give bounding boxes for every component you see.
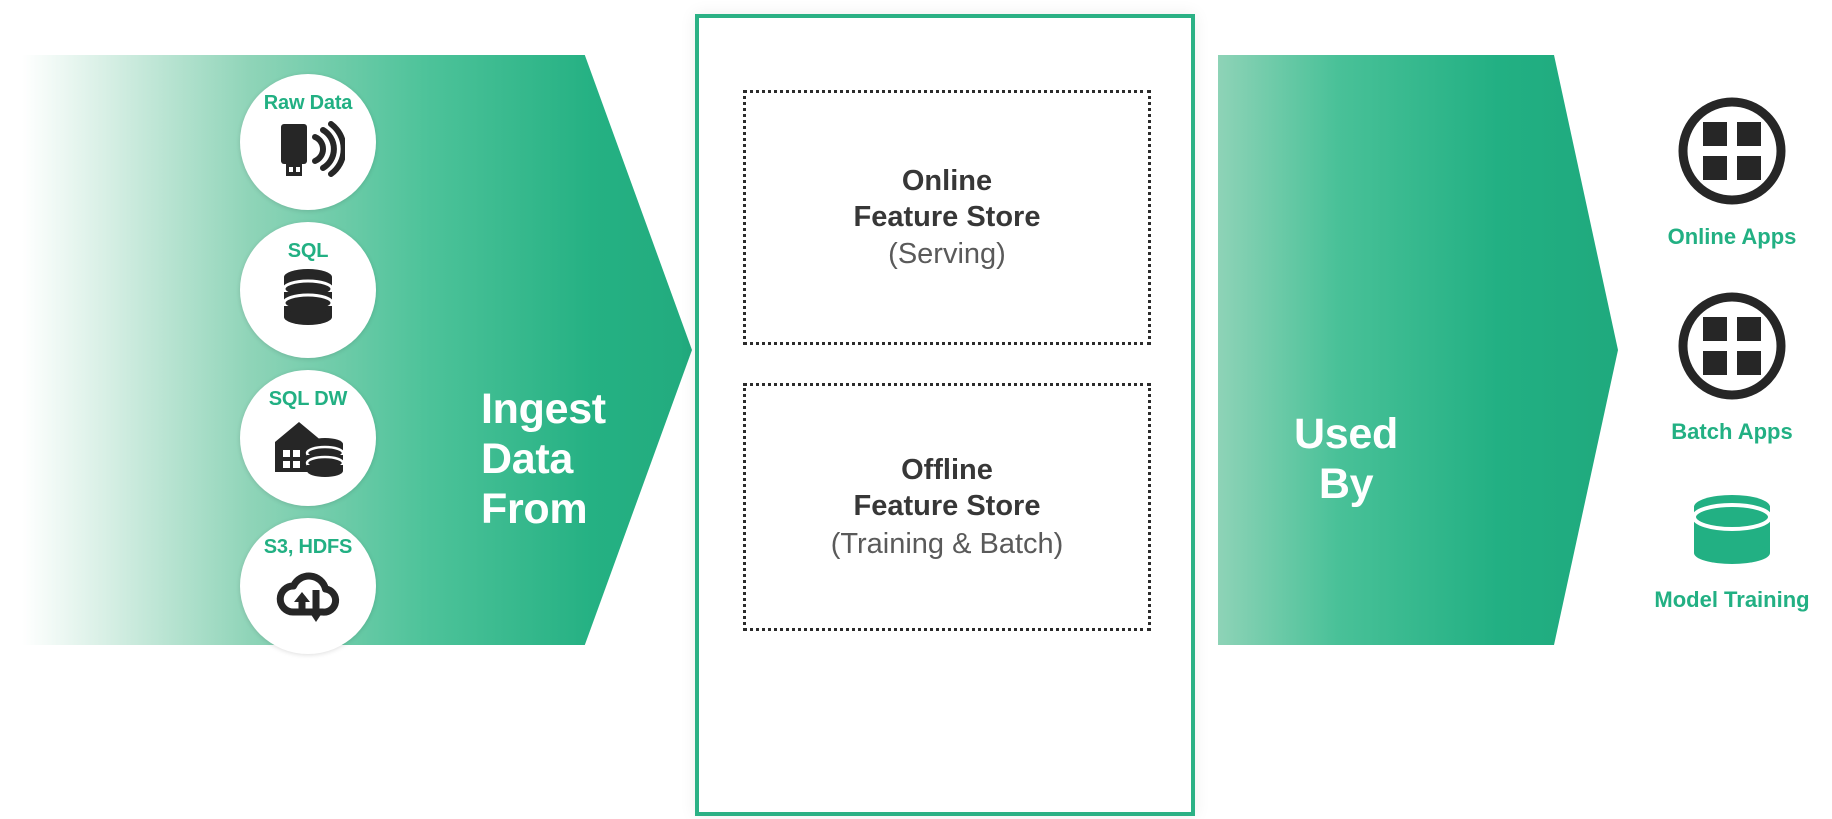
used-by-label-line-1: Used xyxy=(1146,410,1546,460)
database-icon xyxy=(281,268,335,333)
usb-signal-icon xyxy=(271,120,345,187)
data-source-s3-hdfs[interactable]: S3, HDFS xyxy=(240,518,376,654)
consumer-batch-apps[interactable]: Batch Apps xyxy=(1632,290,1832,445)
consumer-label: Model Training xyxy=(1654,587,1809,613)
online-title-line-1: Online xyxy=(854,163,1041,199)
cloud-sync-icon xyxy=(272,564,344,631)
used-by-arrow-label: Used By xyxy=(1146,410,1546,510)
apps-grid-circle-icon xyxy=(1676,95,1788,212)
offline-title-line-1: Offline xyxy=(854,452,1041,488)
data-source-sql-dw[interactable]: SQL DW xyxy=(240,370,376,506)
data-source-raw-data[interactable]: Raw Data xyxy=(240,74,376,210)
feature-store-panel: Online Feature Store (Serving) Offline F… xyxy=(695,14,1195,816)
data-source-label: S3, HDFS xyxy=(264,536,352,559)
ingest-label-line-3: From xyxy=(481,485,606,535)
offline-feature-store-title: Offline Feature Store xyxy=(854,452,1041,525)
apps-grid-circle-icon xyxy=(1676,290,1788,407)
consumer-label: Online Apps xyxy=(1668,224,1797,250)
ingest-label-line-1: Ingest xyxy=(481,385,606,435)
ingest-arrow-label: Ingest Data From xyxy=(481,385,606,535)
data-source-label: SQL DW xyxy=(269,388,347,411)
consumer-label: Batch Apps xyxy=(1671,419,1792,445)
consumer-model-training[interactable]: Model Training xyxy=(1632,490,1832,613)
consumer-online-apps[interactable]: Online Apps xyxy=(1632,95,1832,250)
ingest-label-line-2: Data xyxy=(481,435,606,485)
used-by-arrow-shape xyxy=(1218,55,1618,645)
used-by-arrow: Used By xyxy=(1218,55,1618,645)
data-source-sql[interactable]: SQL xyxy=(240,222,376,358)
online-title-line-2: Feature Store xyxy=(854,199,1041,235)
diagram-canvas: Ingest Data From Raw Data SQL xyxy=(0,0,1832,819)
online-feature-store-subtitle: (Serving) xyxy=(888,236,1006,272)
warehouse-database-icon xyxy=(269,416,347,483)
data-source-label: SQL xyxy=(288,240,329,263)
data-source-label: Raw Data xyxy=(264,92,352,115)
offline-feature-store-box[interactable]: Offline Feature Store (Training & Batch) xyxy=(743,383,1151,631)
offline-title-line-2: Feature Store xyxy=(854,488,1041,524)
online-feature-store-box[interactable]: Online Feature Store (Serving) xyxy=(743,90,1151,345)
used-by-label-line-2: By xyxy=(1146,460,1546,510)
cylinder-database-icon xyxy=(1676,490,1788,575)
offline-feature-store-subtitle: (Training & Batch) xyxy=(831,526,1064,562)
online-feature-store-title: Online Feature Store xyxy=(854,163,1041,236)
